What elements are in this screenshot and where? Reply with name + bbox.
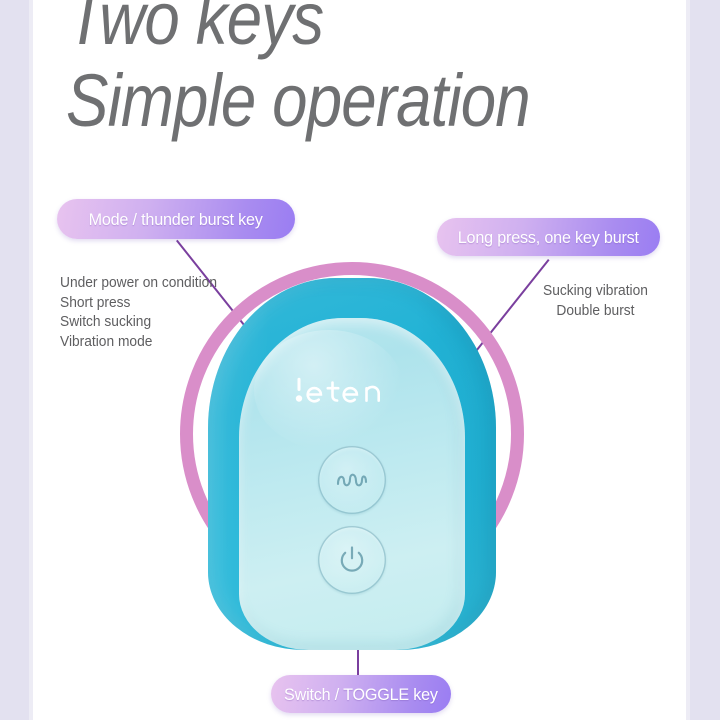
description-left: Under power on condition Short press Swi… <box>60 274 217 352</box>
product-illustration <box>180 262 540 650</box>
left-band-highlight <box>29 0 33 720</box>
left-page-band <box>0 0 33 720</box>
page-title: Two keys Simple operation <box>66 0 599 138</box>
brand-logo <box>239 374 465 408</box>
callout-switch-key-label: Switch / TOGGLE key <box>280 686 441 703</box>
description-right-line-1: Sucking vibration <box>543 282 648 302</box>
description-left-line-4: Vibration mode <box>60 333 217 353</box>
right-page-band <box>686 0 720 720</box>
page-title-line-1: Two keys <box>66 0 599 56</box>
description-left-line-2: Short press <box>60 294 217 314</box>
device-body <box>208 278 496 650</box>
description-left-line-1: Under power on condition <box>60 274 217 294</box>
power-button[interactable] <box>318 526 386 594</box>
callout-mode-key-label: Mode / thunder burst key <box>85 211 267 228</box>
description-left-line-3: Switch sucking <box>60 313 217 333</box>
description-right: Sucking vibration Double burst <box>543 282 648 321</box>
callout-long-press-label: Long press, one key burst <box>454 229 643 246</box>
description-right-line-2: Double burst <box>543 302 648 322</box>
mode-button[interactable] <box>318 446 386 514</box>
callout-switch-key[interactable]: Switch / TOGGLE key <box>271 675 451 713</box>
infographic-page: Two keys Simple operation <box>0 0 720 720</box>
power-icon <box>338 545 366 575</box>
callout-long-press[interactable]: Long press, one key burst <box>437 218 660 256</box>
right-band-highlight <box>686 0 690 720</box>
page-title-line-2: Simple operation <box>66 64 599 138</box>
wave-icon <box>335 470 369 490</box>
callout-mode-key[interactable]: Mode / thunder burst key <box>57 199 295 239</box>
